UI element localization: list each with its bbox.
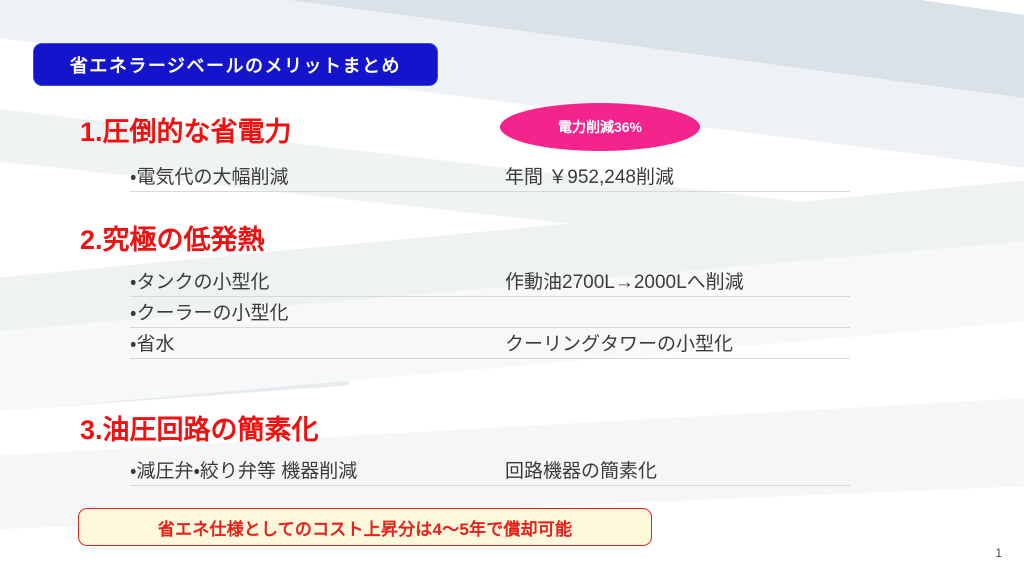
power-reduction-badge: 電力削減36% [500,103,700,151]
section-rows-3: ・減圧弁・絞り弁等 機器削減回路機器の簡素化 [130,455,850,486]
benefit-row: ・クーラーの小型化 [130,297,850,328]
benefit-row-label: ・省水 [130,329,174,356]
benefit-row: ・電気代の大幅削減年間 ￥952,248削減 [130,161,850,192]
benefit-row-value: 作動油2700L→2000Lへ削減 [505,267,744,294]
cost-payback-callout: 省エネ仕様としてのコスト上昇分は4〜5年で償却可能 [78,508,652,546]
benefit-row-label: ・タンクの小型化 [130,267,269,294]
section-heading-3: 3.油圧回路の簡素化 [80,408,319,447]
power-reduction-badge-text: 電力削減36% [558,117,642,137]
benefit-row-value: クーリングタワーの小型化 [505,329,733,356]
benefit-row: ・減圧弁・絞り弁等 機器削減回路機器の簡素化 [130,455,850,486]
cost-payback-callout-text: 省エネ仕様としてのコスト上昇分は4〜5年で償却可能 [158,515,572,540]
section-rows-1: ・電気代の大幅削減年間 ￥952,248削減 [130,161,850,192]
slide-title-banner: 省エネラージベールのメリットまとめ [33,43,438,86]
benefit-row-label: ・クーラーの小型化 [130,298,288,325]
section-heading-2: 2.究極の低発熱 [80,218,265,257]
benefit-row-label: ・電気代の大幅削減 [130,162,288,189]
benefit-row-value: 回路機器の簡素化 [505,456,657,483]
benefit-row: ・タンクの小型化作動油2700L→2000Lへ削減 [130,266,850,297]
section-rows-2: ・タンクの小型化作動油2700L→2000Lへ削減・クーラーの小型化・省水クーリ… [130,266,850,359]
benefit-row: ・省水クーリングタワーの小型化 [130,328,850,359]
slide-title-text: 省エネラージベールのメリットまとめ [70,52,401,78]
benefit-row-value: 年間 ￥952,248削減 [505,162,674,189]
slide-canvas: 省エネラージベールのメリットまとめ 電力削減36% 1.圧倒的な省電力・電気代の… [0,0,1024,576]
page-number: 1 [995,546,1002,560]
benefit-row-label: ・減圧弁・絞り弁等 機器削減 [130,456,357,483]
section-heading-1: 1.圧倒的な省電力 [80,110,292,149]
